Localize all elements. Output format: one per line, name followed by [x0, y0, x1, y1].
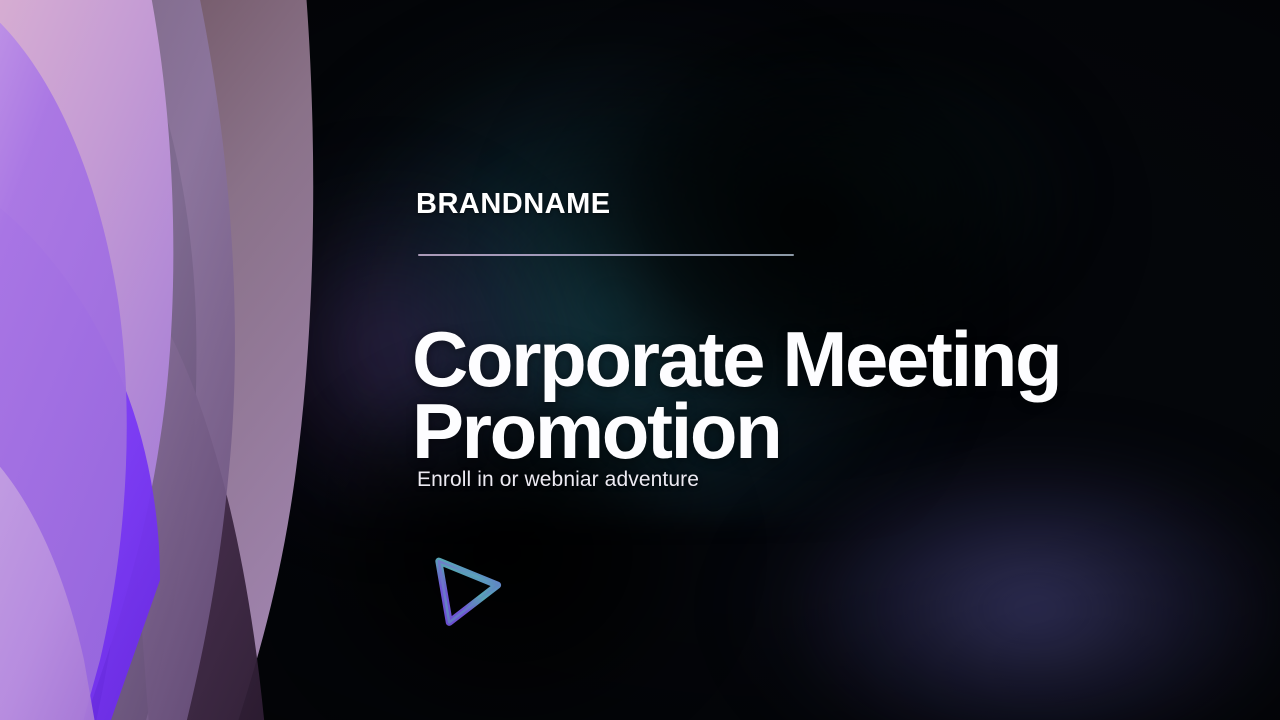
- decorative-petal-graphic: [0, 0, 340, 720]
- play-triangle-icon: [430, 548, 522, 632]
- headline-line-1: Corporate Meeting: [412, 324, 1212, 396]
- play-button[interactable]: [430, 548, 522, 632]
- brand-name: BRANDNAME: [416, 190, 611, 219]
- headline-line-2: Promotion: [412, 396, 1212, 468]
- page-title: Corporate Meeting Promotion: [412, 324, 1212, 468]
- subtitle: Enroll in or webniar adventure: [417, 469, 699, 490]
- divider-rule: [418, 254, 794, 256]
- content-column: BRANDNAME Corporate Meeting Promotion En…: [416, 0, 1216, 720]
- promo-slide: BRANDNAME Corporate Meeting Promotion En…: [0, 0, 1280, 720]
